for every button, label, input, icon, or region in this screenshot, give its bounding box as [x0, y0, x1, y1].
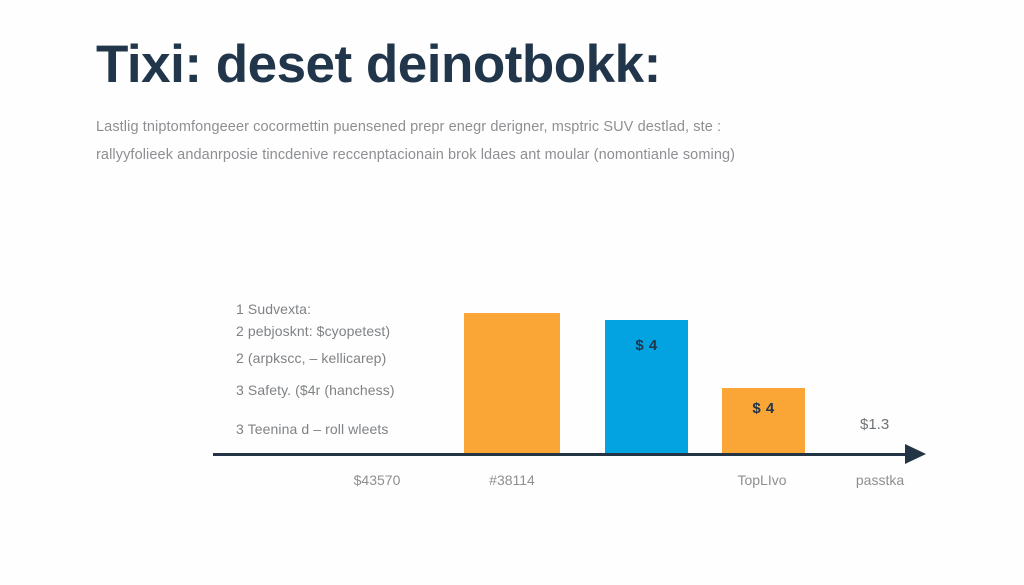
x-tick-label: #38114 [442, 472, 582, 488]
chart-legend: 1 Sudvexta: 2 pebjosknt: $cyopetest) 2 (… [236, 298, 436, 452]
bar-series-1[interactable] [464, 313, 560, 453]
value-annotation: $1.3 [860, 416, 889, 433]
legend-item: 1 Sudvexta: [236, 298, 436, 320]
bar-value-label: $ 4 [605, 337, 688, 354]
legend-item: 3 Teenina d – roll wleets [236, 406, 436, 452]
bar-chart: 1 Sudvexta: 2 pebjosknt: $cyopetest) 2 (… [0, 0, 1024, 585]
bar-series-3[interactable]: $ 4 [722, 388, 805, 453]
x-axis-line [213, 453, 913, 456]
legend-item: 2 (arpkscc, – kellicarep) [236, 342, 436, 374]
chart-canvas: Tixi: deset deinotbokk: Lastlig tniptomf… [0, 0, 1024, 585]
legend-item: 3 Safety. ($4r (hanchess) [236, 374, 436, 406]
x-axis-arrow-icon [905, 444, 926, 464]
x-tick-label: $43570 [307, 472, 447, 488]
legend-item: 2 pebjosknt: $cyopetest) [236, 320, 436, 342]
x-tick-label: passtka [810, 472, 950, 488]
bar-value-label: $ 4 [722, 400, 805, 417]
bar-series-2[interactable]: $ 4 [605, 320, 688, 453]
